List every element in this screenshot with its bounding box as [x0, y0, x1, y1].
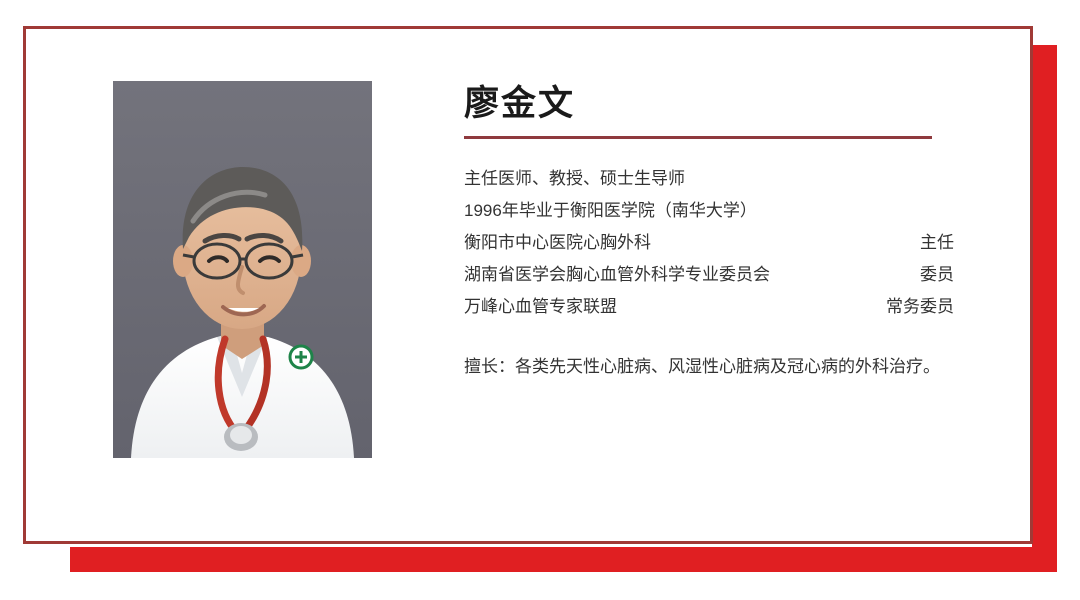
credential-row: 万峰心血管专家联盟 常务委员 — [464, 291, 954, 323]
credential-role: 主任 — [920, 227, 954, 259]
credential-label: 湖南省医学会胸心血管外科学专业委员会 — [464, 259, 770, 291]
credential-row: 衡阳市中心医院心胸外科 主任 — [464, 227, 954, 259]
profile-info: 廖金文 主任医师、教授、硕士生导师 1996年毕业于衡阳医学院（南华大学） 衡阳… — [462, 81, 988, 381]
credential-role: 常务委员 — [886, 291, 954, 323]
credentials-list: 主任医师、教授、硕士生导师 1996年毕业于衡阳医学院（南华大学） 衡阳市中心医… — [462, 163, 988, 323]
title-divider — [464, 136, 932, 139]
doctor-name: 廖金文 — [462, 81, 988, 127]
profile-card: 廖金文 主任医师、教授、硕士生导师 1996年毕业于衡阳医学院（南华大学） 衡阳… — [26, 29, 1030, 541]
portrait-photo — [113, 81, 372, 458]
credential-label: 万峰心血管专家联盟 — [464, 291, 617, 323]
credential-label: 主任医师、教授、硕士生导师 — [464, 163, 685, 195]
profile-card-stage: 廖金文 主任医师、教授、硕士生导师 1996年毕业于衡阳医学院（南华大学） 衡阳… — [0, 0, 1080, 600]
credential-role: 委员 — [920, 259, 954, 291]
specialty-text: 擅长：各类先天性心脏病、风湿性心脏病及冠心病的外科治疗。 — [464, 353, 980, 381]
credential-row: 湖南省医学会胸心血管外科学专业委员会 委员 — [464, 259, 954, 291]
credential-row: 主任医师、教授、硕士生导师 — [464, 163, 954, 195]
credential-label: 1996年毕业于衡阳医学院（南华大学） — [464, 195, 757, 227]
credential-row: 1996年毕业于衡阳医学院（南华大学） — [464, 195, 954, 227]
credential-label: 衡阳市中心医院心胸外科 — [464, 227, 651, 259]
